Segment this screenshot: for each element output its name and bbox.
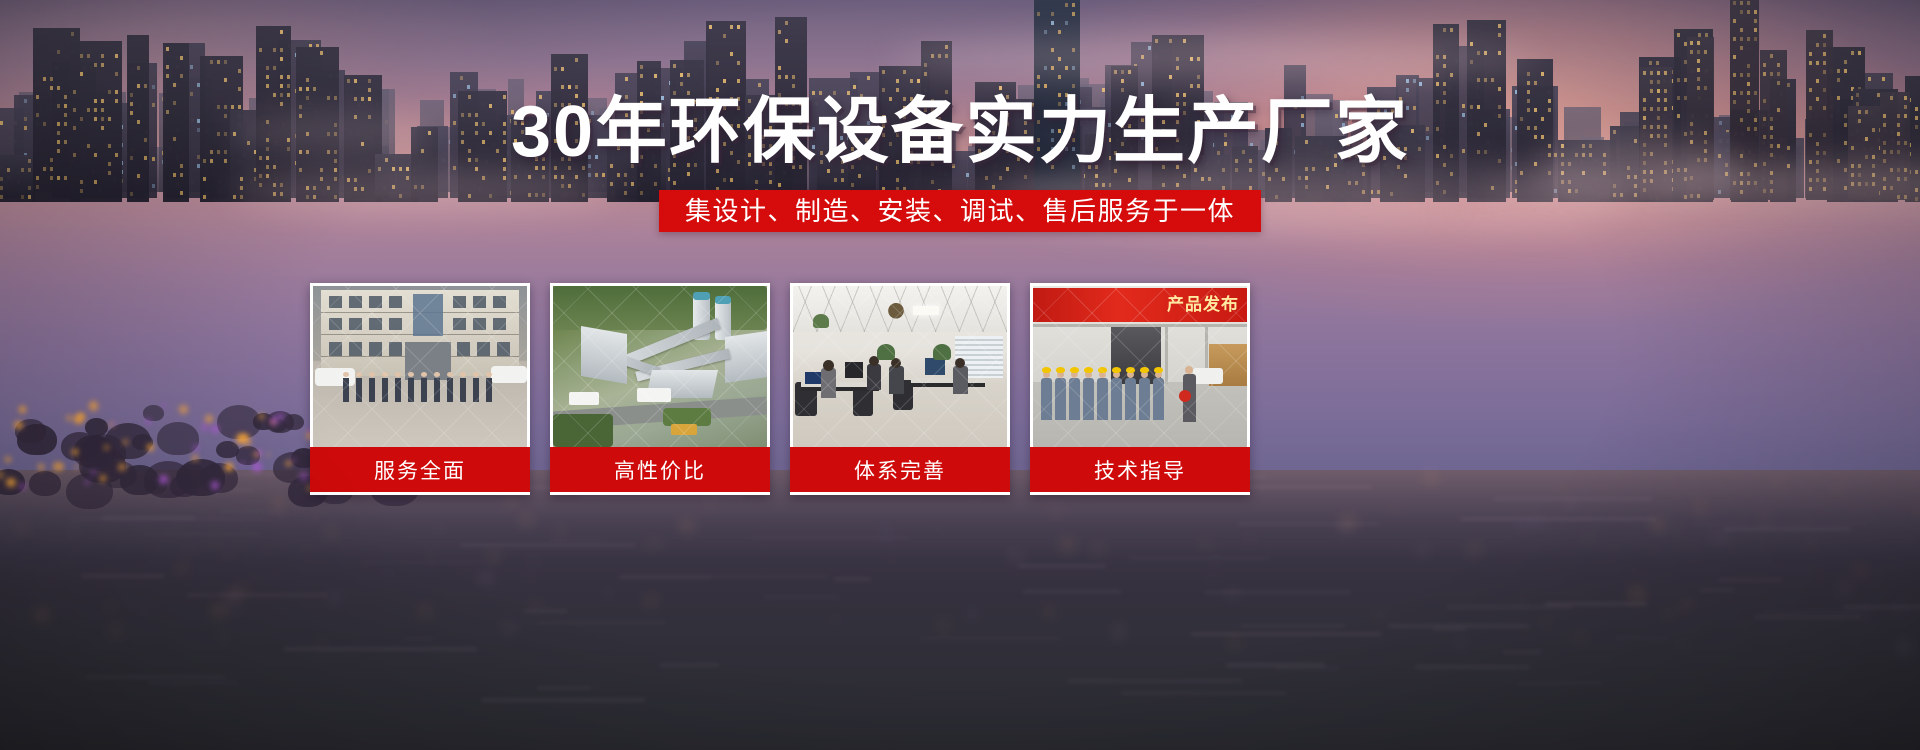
water-light-reflection	[1110, 550, 1114, 553]
water-streak	[713, 576, 828, 578]
water-light-reflection	[934, 527, 938, 530]
water-light-reflection	[1417, 547, 1427, 554]
water-light-reflection	[41, 529, 43, 531]
water-streak	[82, 575, 164, 577]
aerial-production-plant-photo	[553, 286, 767, 447]
building-window	[1747, 10, 1750, 14]
hard-hat-icon	[1056, 367, 1065, 373]
water-streak	[1461, 518, 1656, 520]
building-window	[1770, 54, 1773, 58]
water-light-reflection	[1675, 525, 1680, 528]
building-window	[673, 64, 676, 68]
water-streak	[1691, 523, 1866, 525]
water-streak	[1724, 528, 1849, 530]
building-window	[152, 85, 155, 89]
water-light-reflection	[327, 530, 335, 536]
hard-hat-icon	[1140, 367, 1149, 373]
building-window	[137, 174, 140, 178]
water-light-reflection	[505, 625, 513, 631]
building-window	[1697, 41, 1700, 45]
feature-card[interactable]: 体系完善	[790, 283, 1010, 495]
water-streak	[537, 687, 592, 689]
building-window	[1406, 79, 1409, 83]
water-light-reflection	[833, 618, 838, 621]
building-window	[1754, 19, 1757, 23]
water-light-reflection	[604, 591, 612, 596]
building-window	[180, 74, 183, 78]
building-window	[1740, 73, 1743, 77]
building-window	[834, 178, 837, 182]
building-window	[1882, 77, 1885, 81]
water-light-reflection	[18, 525, 24, 530]
building-window	[1697, 77, 1700, 81]
building-window	[306, 87, 309, 91]
water-light-reflection	[1429, 629, 1432, 631]
worker-figure	[1083, 378, 1094, 420]
street-light	[292, 458, 295, 461]
building-window	[1777, 63, 1780, 67]
staff-person	[486, 378, 492, 402]
staff-person	[460, 378, 466, 402]
water-streak	[220, 511, 280, 513]
building-window	[320, 168, 323, 172]
building-window	[94, 180, 97, 184]
building-window	[1733, 55, 1736, 59]
building-window	[1443, 28, 1446, 32]
building-window	[931, 180, 934, 184]
building-window	[999, 86, 1002, 90]
building-window	[1777, 72, 1780, 76]
water-streak	[1388, 625, 1529, 627]
building-window	[680, 73, 683, 77]
building-window	[166, 74, 169, 78]
building-window	[190, 65, 193, 69]
building-window	[1690, 41, 1693, 45]
building-window	[115, 54, 118, 58]
water-light-reflection	[1697, 500, 1704, 505]
building-window	[1747, 37, 1750, 41]
building-window	[999, 176, 1002, 180]
building-window	[266, 66, 269, 70]
building-window	[266, 84, 269, 88]
water-streak	[1433, 628, 1466, 630]
building-window	[144, 84, 147, 88]
water-light-reflection	[1471, 552, 1476, 556]
building-window	[1823, 34, 1826, 38]
building-window	[50, 176, 53, 180]
building-window	[1534, 81, 1537, 85]
building-window	[1754, 37, 1757, 41]
street-light	[162, 404, 165, 407]
water-light-reflection	[616, 592, 619, 594]
building-window	[1527, 81, 1530, 85]
feature-card-caption: 体系完善	[790, 447, 1010, 492]
building-window	[730, 25, 733, 29]
building-window	[1787, 83, 1790, 87]
river-water	[0, 470, 1920, 750]
water-light-reflection	[1114, 628, 1124, 635]
water-light-reflection	[1899, 644, 1909, 651]
street-light	[66, 415, 72, 421]
water-light-reflection	[1666, 610, 1672, 614]
building-window	[1844, 69, 1847, 73]
water-streak	[1275, 667, 1339, 669]
building-window	[173, 83, 176, 87]
building-window	[280, 48, 283, 52]
building-window	[1816, 79, 1819, 83]
water-light-reflection	[1578, 509, 1582, 512]
building-window	[1664, 89, 1667, 93]
staff-person	[447, 378, 453, 402]
building-window	[588, 173, 591, 177]
water-light-reflection	[227, 554, 232, 558]
water-light-reflection	[1722, 534, 1730, 540]
water-light-reflection	[649, 541, 657, 546]
building-window	[1697, 59, 1700, 63]
staff-person	[382, 378, 388, 402]
street-light	[211, 481, 219, 489]
building-window	[1044, 30, 1047, 34]
staff-person	[421, 378, 427, 402]
water-light-reflection	[968, 611, 977, 617]
feature-card[interactable]: 高性价比	[550, 283, 770, 495]
water-light-reflection	[1775, 480, 1783, 486]
water-streak	[144, 533, 261, 535]
water-light-reflection	[107, 605, 115, 610]
street-light	[85, 480, 90, 485]
building-window	[896, 79, 899, 83]
street-light	[5, 457, 10, 462]
worker-figure	[1111, 378, 1122, 420]
street-light	[100, 475, 107, 482]
water-light-reflection	[214, 607, 224, 614]
water-light-reflection	[1760, 516, 1769, 522]
water-light-reflection	[1679, 644, 1687, 650]
water-light-reflection	[529, 559, 539, 566]
building-window	[1643, 71, 1646, 75]
building-window	[617, 173, 620, 177]
hard-hat-icon	[1154, 367, 1163, 373]
water-streak	[536, 622, 667, 624]
water-light-reflection	[1462, 630, 1464, 631]
water-streak	[1226, 664, 1325, 666]
water-light-reflection	[1542, 620, 1550, 625]
worker-figure	[1041, 378, 1052, 420]
staff-person	[408, 378, 414, 402]
street-light	[112, 422, 115, 425]
water-light-reflection	[1470, 546, 1478, 551]
staff-person-head	[421, 372, 427, 377]
shoreline-tree	[86, 436, 106, 452]
building-window	[108, 90, 111, 94]
water-light-reflection	[1339, 526, 1349, 533]
street-light	[193, 445, 199, 451]
building-window	[1664, 71, 1667, 75]
building-window	[575, 85, 578, 89]
building-window	[87, 54, 90, 58]
water-streak	[1843, 606, 1920, 608]
water-light-reflection	[1835, 487, 1841, 491]
building-window	[1858, 51, 1861, 55]
feature-card-caption: 服务全面	[310, 447, 530, 492]
building-window	[1121, 79, 1124, 83]
water-light-reflection	[646, 598, 656, 605]
water-streak	[85, 676, 226, 678]
staff-person-head	[473, 372, 479, 377]
building-window	[1657, 80, 1660, 84]
water-streak	[659, 664, 720, 666]
street-light	[14, 421, 22, 429]
water-streak	[579, 496, 745, 498]
building-window	[238, 87, 241, 91]
water-light-reflection	[1523, 634, 1528, 637]
building-window	[1498, 24, 1501, 28]
water-light-reflection	[1712, 532, 1722, 539]
worker-figure	[1125, 378, 1136, 420]
building-window	[1704, 86, 1707, 90]
feature-card-caption: 高性价比	[550, 447, 770, 492]
workshop-workers-hardhats-photo: 产品发布	[1033, 286, 1247, 447]
water-light-reflection	[1378, 613, 1384, 617]
street-light	[299, 471, 309, 481]
street-light	[123, 439, 128, 444]
building-window	[640, 173, 643, 177]
building-window	[1868, 77, 1871, 81]
staff-person-head	[369, 372, 375, 377]
water-light-reflection	[1857, 568, 1864, 573]
building-window	[21, 168, 24, 172]
water-light-reflection	[1683, 601, 1690, 606]
water-light-reflection	[221, 636, 225, 639]
building-window	[460, 76, 463, 80]
staff-person	[369, 378, 375, 402]
building-window	[785, 39, 788, 43]
building-window	[1650, 80, 1653, 84]
building-window	[1527, 72, 1530, 76]
building-window	[347, 79, 350, 83]
feature-card[interactable]: 服务全面	[310, 283, 530, 495]
building-window	[778, 30, 781, 34]
building-window	[467, 85, 470, 89]
street-light	[179, 405, 188, 414]
building-window	[903, 70, 906, 74]
street-light	[205, 415, 213, 423]
water-light-reflection	[69, 527, 79, 534]
water-streak	[1755, 616, 1859, 618]
building-window	[687, 172, 690, 176]
building-window	[1747, 73, 1750, 77]
building-window	[851, 183, 854, 187]
building-window	[273, 66, 276, 70]
building-window	[755, 180, 758, 184]
water-streak	[1018, 565, 1106, 567]
building-window	[1065, 3, 1068, 7]
water-light-reflection	[1142, 583, 1144, 584]
building-window	[624, 173, 627, 177]
building-window	[368, 79, 371, 83]
water-light-reflection	[421, 608, 431, 615]
building-window	[1697, 86, 1700, 90]
building-window	[57, 86, 60, 90]
building-window	[1051, 12, 1054, 16]
water-streak	[1415, 666, 1530, 668]
building-window	[924, 72, 927, 76]
water-light-reflection	[329, 594, 339, 601]
feature-card-row: 服务全面	[310, 283, 1610, 495]
building-window	[137, 84, 140, 88]
building-window	[1024, 175, 1027, 179]
building-window	[1450, 73, 1453, 77]
building-window	[1851, 51, 1854, 55]
building-window	[716, 61, 719, 65]
hard-hat-icon	[1112, 367, 1121, 373]
building-window	[785, 75, 788, 79]
building-window	[152, 184, 155, 188]
building-window	[1733, 19, 1736, 23]
building-window	[115, 72, 118, 76]
building-window	[1650, 71, 1653, 75]
water-light-reflection	[1840, 587, 1849, 593]
water-light-reflection	[436, 527, 443, 532]
building-window	[758, 83, 761, 87]
street-light	[257, 450, 262, 455]
building-window	[0, 177, 3, 181]
building-window	[1740, 91, 1743, 95]
staff-person-head	[434, 372, 440, 377]
water-light-reflection	[230, 606, 238, 611]
building-window	[240, 177, 243, 181]
building-window	[354, 79, 357, 83]
street-light	[91, 470, 95, 474]
building-window	[1754, 91, 1757, 95]
building-window	[1816, 43, 1819, 47]
street-light	[192, 455, 198, 461]
building-window	[115, 90, 118, 94]
building-window	[917, 79, 920, 83]
water-streak	[1068, 680, 1242, 682]
street-light	[240, 462, 245, 467]
street-light	[225, 463, 232, 470]
water-light-reflection	[1568, 501, 1576, 507]
water-streak	[1718, 579, 1782, 581]
building-window	[554, 67, 557, 71]
building-window	[985, 176, 988, 180]
street-light	[236, 434, 246, 444]
building-window	[1190, 84, 1193, 88]
building-window	[43, 77, 46, 81]
street-light	[6, 478, 16, 488]
street-light	[159, 475, 168, 484]
building-window	[858, 174, 861, 178]
water-streak	[1121, 692, 1287, 694]
building-window	[94, 63, 97, 67]
building-window	[71, 32, 74, 36]
building-window	[1740, 10, 1743, 14]
water-streak	[920, 637, 1062, 639]
building-window	[57, 50, 60, 54]
water-light-reflection	[524, 574, 531, 579]
building-window	[1657, 89, 1660, 93]
water-streak	[764, 596, 841, 598]
building-window	[1740, 28, 1743, 32]
water-streak	[361, 561, 499, 563]
water-light-reflection	[186, 549, 191, 552]
water-light-reflection	[1629, 569, 1635, 573]
feature-card[interactable]: 产品发布 技术指导	[1030, 283, 1250, 495]
water-light-reflection	[1520, 601, 1525, 604]
building-window	[287, 75, 290, 79]
building-window	[640, 65, 643, 69]
water-streak	[187, 594, 327, 596]
street-light	[118, 463, 126, 471]
water-streak	[1191, 633, 1380, 635]
staff-person-head	[382, 372, 388, 377]
water-streak	[1764, 611, 1862, 613]
water-light-reflection	[1564, 529, 1567, 531]
worker-figure	[1055, 378, 1066, 420]
building-window	[299, 87, 302, 91]
building-window	[299, 168, 302, 172]
water-streak	[523, 610, 567, 612]
water-streak	[404, 638, 434, 640]
building-window	[1816, 61, 1819, 65]
building-window	[180, 56, 183, 60]
building-window	[80, 180, 83, 184]
subtitle-row: 集设计、制造、安装、调试、售后服务于一体	[0, 190, 1920, 232]
water-light-reflection	[1203, 541, 1209, 545]
building-window	[673, 181, 676, 185]
building-window	[57, 176, 60, 180]
building-window	[575, 58, 578, 62]
water-streak	[1545, 603, 1647, 605]
water-light-reflection	[1230, 639, 1239, 645]
staff-person	[434, 378, 440, 402]
building-window	[785, 21, 788, 25]
building-window	[625, 77, 628, 81]
building-window	[1477, 78, 1480, 82]
water-streak	[1615, 637, 1668, 639]
building-window	[259, 48, 262, 52]
building-window	[896, 178, 899, 182]
water-streak	[549, 539, 607, 541]
building-window	[1037, 12, 1040, 16]
water-streak	[619, 576, 713, 578]
building-window	[166, 47, 169, 51]
water-light-reflection	[1393, 527, 1395, 529]
building-window	[306, 78, 309, 82]
water-streak	[1238, 523, 1380, 525]
building-window	[1837, 69, 1840, 73]
building-window	[180, 173, 183, 177]
building-window	[1527, 90, 1530, 94]
street-light	[74, 415, 83, 424]
worker-figure	[1139, 378, 1150, 420]
water-light-reflection	[1392, 507, 1397, 511]
building-window	[1443, 91, 1446, 95]
building-window	[568, 85, 571, 89]
water-light-reflection	[142, 610, 148, 614]
building-window	[1498, 33, 1501, 37]
water-light-reflection	[682, 522, 693, 529]
building-window	[224, 60, 227, 64]
building-window	[853, 85, 856, 89]
building-window	[137, 66, 140, 70]
hero-banner: 30年环保设备实力生产厂家 集设计、制造、安装、调试、售后服务于一体	[0, 0, 1920, 750]
building-window	[654, 74, 657, 78]
building-window	[1058, 30, 1061, 34]
building-window	[602, 173, 605, 177]
building-window	[1747, 91, 1750, 95]
